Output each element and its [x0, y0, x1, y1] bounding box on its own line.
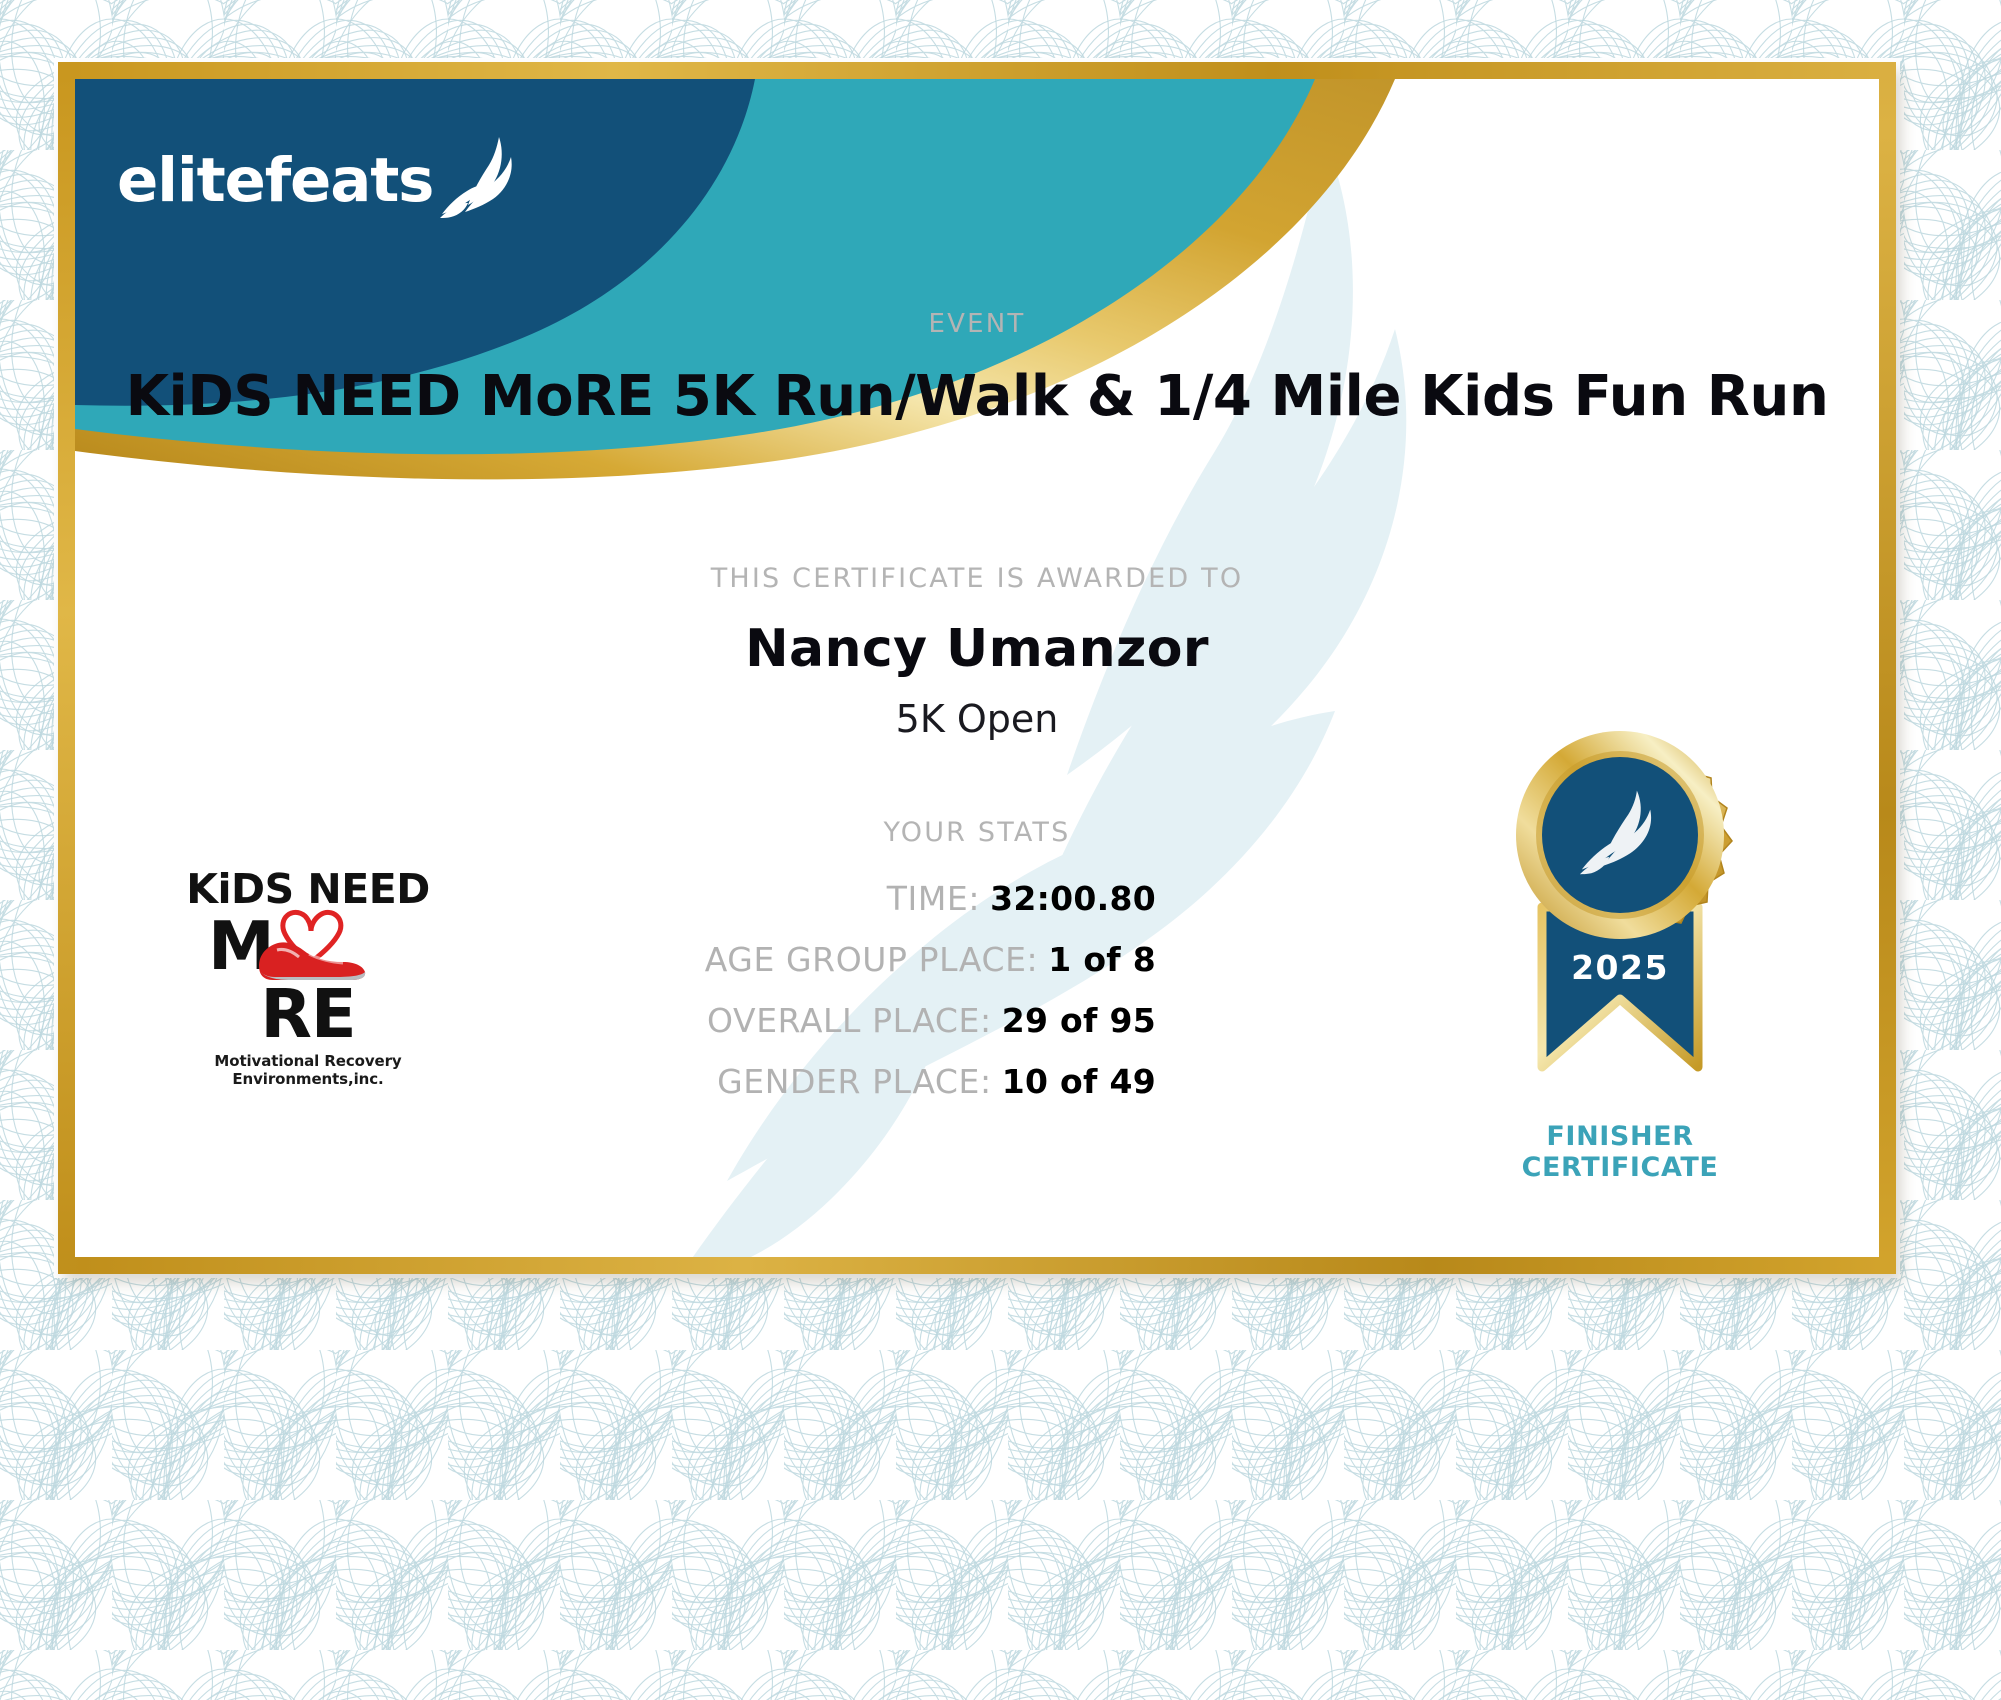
- stat-value: 29 of 95: [1002, 1001, 1156, 1040]
- event-label: EVENT: [75, 309, 1879, 339]
- stat-value: 10 of 49: [1002, 1062, 1156, 1101]
- stat-key: OVERALL PLACE:: [707, 1001, 992, 1040]
- red-running-shoe-heart-icon: [251, 904, 373, 982]
- gold-border-frame: elitefeats EVENT KiDS NEED MoRE 5K Run/W…: [58, 62, 1896, 1274]
- certificate-page: elitefeats EVENT KiDS NEED MoRE 5K Run/W…: [0, 0, 2001, 1700]
- medal-caption-line-1: FINISHER: [1455, 1121, 1785, 1152]
- knm-tagline: Motivational Recovery Environments,inc.: [153, 1052, 463, 1088]
- knm-line-2: M OO RE: [153, 912, 463, 1049]
- stat-key: TIME:: [887, 879, 980, 918]
- recipient-name: Nancy Umanzor: [75, 619, 1879, 679]
- medal-caption: FINISHER CERTIFICATE: [1455, 1121, 1785, 1183]
- finisher-medal: 2025 FINISHER CERTIFICATE: [1455, 727, 1785, 1183]
- medal-caption-line-2: CERTIFICATE: [1455, 1152, 1785, 1183]
- certificate-canvas: elitefeats EVENT KiDS NEED MoRE 5K Run/W…: [75, 79, 1879, 1257]
- medal-year: 2025: [1571, 948, 1669, 987]
- stat-key: GENDER PLACE:: [717, 1062, 992, 1101]
- knm-letters-re: RE: [260, 975, 355, 1053]
- stat-value: 32:00.80: [990, 879, 1156, 918]
- medal-graphic: 2025: [1470, 727, 1770, 1117]
- stat-key: AGE GROUP PLACE:: [705, 940, 1039, 979]
- awarded-to-label: THIS CERTIFICATE IS AWARDED TO: [75, 563, 1879, 594]
- stat-value: 1 of 8: [1048, 940, 1156, 979]
- kids-need-more-logo: KiDS NEED M OO RE Motivational Recovery …: [153, 869, 463, 1088]
- event-title: KiDS NEED MoRE 5K Run/Walk & 1/4 Mile Ki…: [75, 364, 1879, 429]
